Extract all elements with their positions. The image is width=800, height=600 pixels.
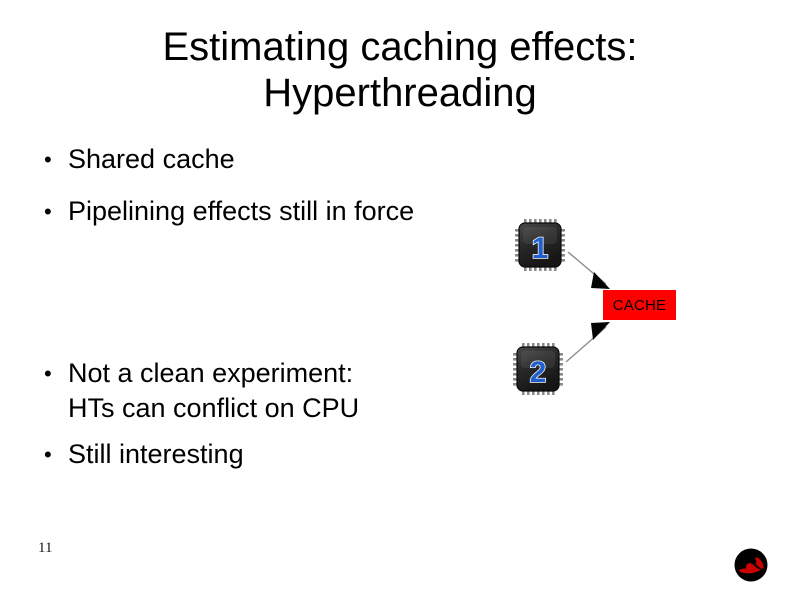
cpu-chip-2-digit: 2: [530, 356, 547, 389]
bullet-text: Shared cache: [68, 142, 235, 177]
cpu-chip-icon: 1: [514, 218, 566, 272]
bullet-item-pipelining-effects: • Pipelining effects still in force: [44, 194, 414, 229]
bullet-marker-icon: •: [44, 437, 68, 472]
cpu-chip-icon: 2: [512, 342, 564, 396]
bullet-marker-icon: •: [44, 356, 68, 391]
cpu-chip-1-digit: 1: [532, 232, 549, 265]
arrow-chip1-to-cache: [568, 252, 610, 289]
arrow-chip2-to-cache: [566, 322, 610, 362]
title-line-2: Hyperthreading: [60, 70, 740, 116]
title-line-1: Estimating caching effects:: [60, 24, 740, 70]
bullet-item-not-clean-experiment: • Not a clean experiment: HTs can confli…: [44, 356, 359, 426]
bullet-marker-icon: •: [44, 194, 68, 229]
page-title: Estimating caching effects: Hyperthreadi…: [60, 24, 740, 116]
slide-canvas: Estimating caching effects: Hyperthreadi…: [0, 0, 800, 600]
bullet-text: Still interesting: [68, 437, 244, 472]
bullet-item-shared-cache: • Shared cache: [44, 142, 235, 177]
page-number: 11: [38, 540, 52, 557]
bullet-text: Pipelining effects still in force: [68, 194, 414, 229]
hyperthreading-cache-diagram: 1: [500, 210, 700, 410]
bullet-marker-icon: •: [44, 142, 68, 177]
cache-label: CACHE: [613, 298, 667, 313]
bullet-item-still-interesting: • Still interesting: [44, 437, 244, 472]
shadowman-icon: [732, 546, 770, 584]
cache-box: CACHE: [603, 290, 676, 320]
red-hat-shadowman-logo: [732, 546, 770, 584]
cpu-chip-2: 2: [512, 342, 564, 396]
cpu-chip-1: 1: [514, 218, 566, 272]
bullet-text: Not a clean experiment: HTs can conflict…: [68, 356, 359, 426]
